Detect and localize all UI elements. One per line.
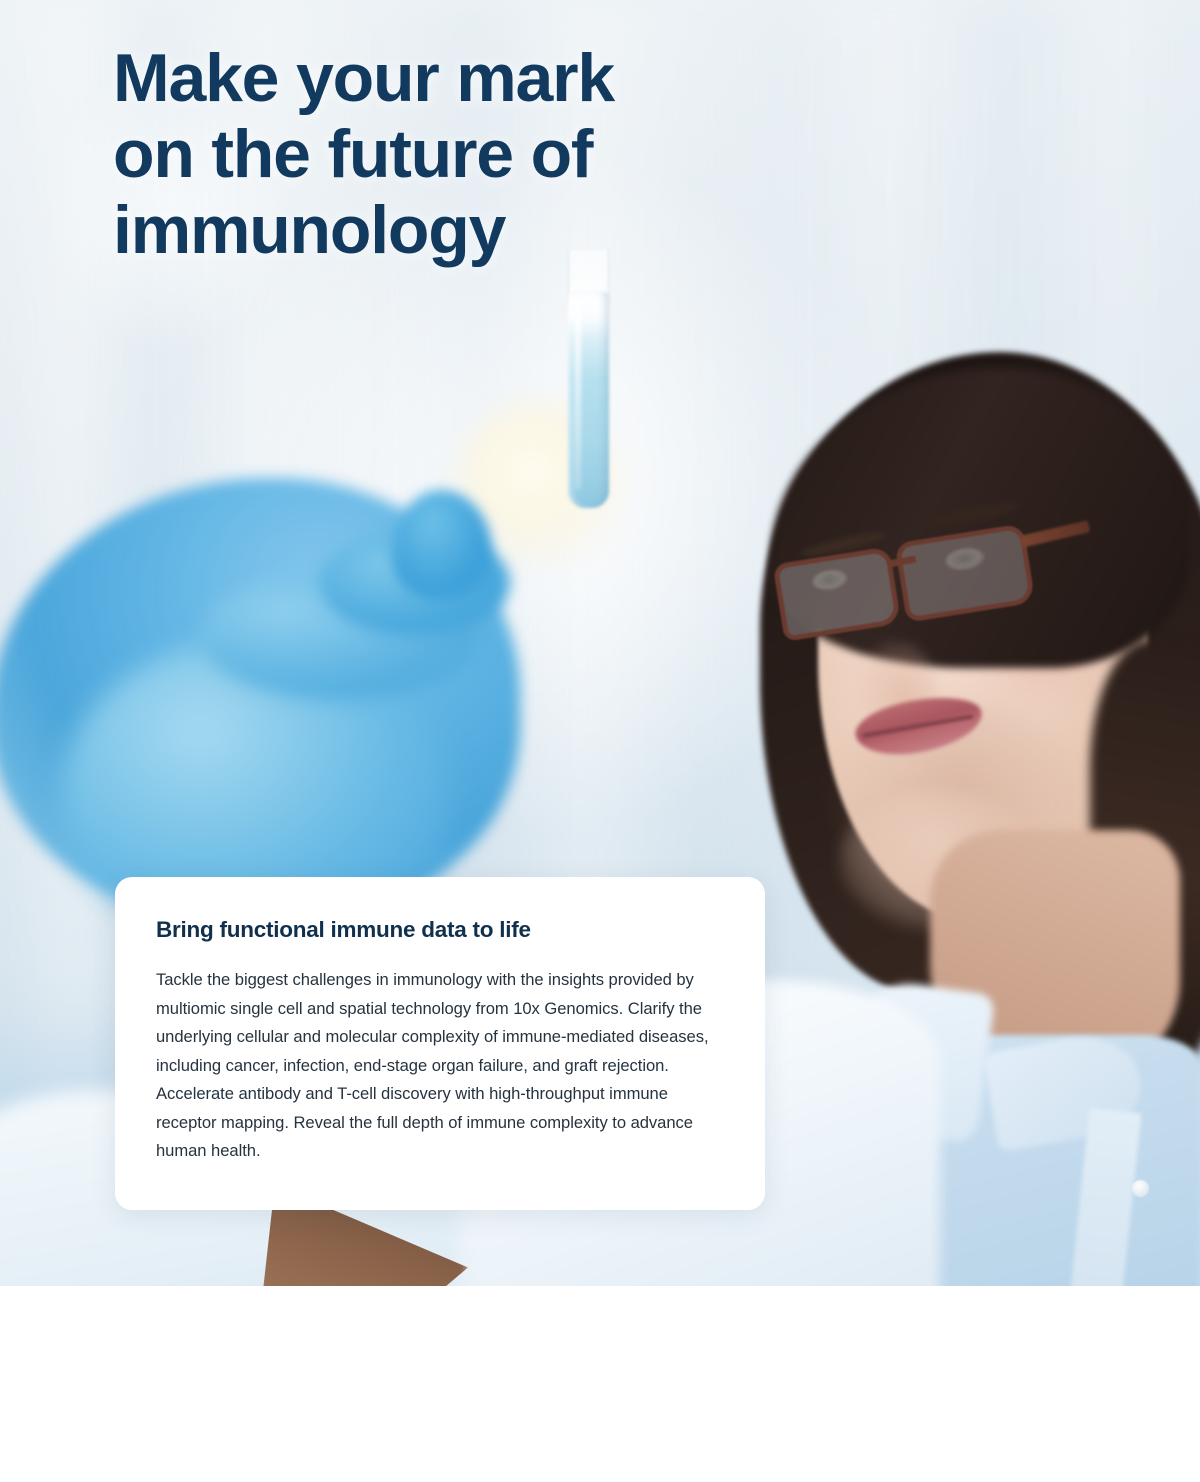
card-body-text: Tackle the biggest challenges in immunol… <box>156 966 713 1166</box>
info-card: Bring functional immune data to life Tac… <box>115 877 765 1210</box>
test-tube-highlight <box>575 300 581 490</box>
hero-photo: Make your mark on the future of immunolo… <box>0 0 1200 1286</box>
poster: Make your mark on the future of immunolo… <box>0 0 1200 1482</box>
card-title: Bring functional immune data to life <box>156 917 713 943</box>
page-title: Make your mark on the future of immunolo… <box>113 40 833 268</box>
shirt-button <box>1132 1180 1149 1197</box>
footer: Learn more: 10xgenomics.com/research-are… <box>0 1286 1200 1482</box>
